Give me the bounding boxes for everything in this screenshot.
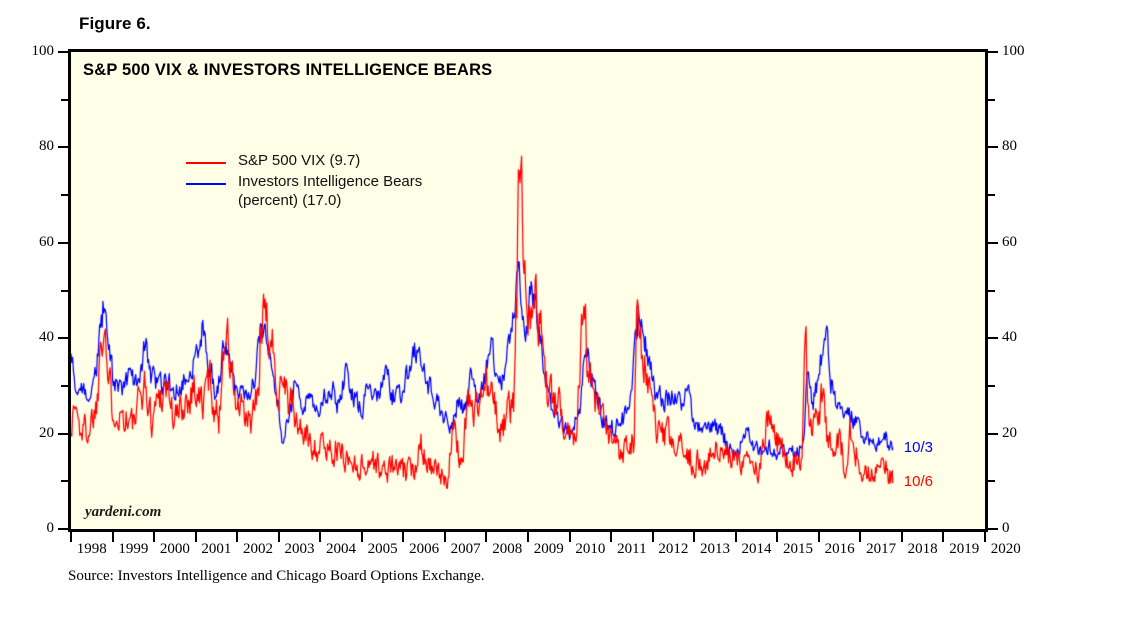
source-note: Source: Investors Intelligence and Chica… [68, 568, 485, 585]
y-tick-100-left [58, 51, 68, 53]
y-tick-70-left [61, 194, 68, 196]
y-tick-label-20-right: 20 [1002, 425, 1036, 442]
chart-title: S&P 500 VIX & INVESTORS INTELLIGENCE BEA… [83, 61, 492, 80]
y-tick-label-40-left: 40 [20, 329, 54, 346]
y-tick-40-right [988, 337, 998, 339]
y-tick-10-left [61, 480, 68, 482]
y-tick-label-80-right: 80 [1002, 138, 1036, 155]
y-tick-90-left [61, 99, 68, 101]
y-tick-label-60-left: 60 [20, 234, 54, 251]
end-label-vix: 10/6 [904, 473, 933, 490]
y-tick-label-0-right: 0 [1002, 520, 1036, 537]
watermark: yardeni.com [85, 504, 161, 521]
y-tick-label-100-right: 100 [1002, 43, 1036, 60]
y-tick-90-right [988, 99, 995, 101]
y-tick-60-right [988, 242, 998, 244]
y-tick-100-right [988, 51, 998, 53]
legend-label-bears-2: (percent) (17.0) [238, 192, 341, 209]
legend-swatch-vix [186, 162, 226, 164]
y-tick-label-60-right: 60 [1002, 234, 1036, 251]
figure-root: Figure 6. 020406080100 020406080100 1998… [0, 0, 1138, 621]
plot-area: S&P 500 VIX & INVESTORS INTELLIGENCE BEA… [68, 49, 988, 532]
y-tick-20-right [988, 433, 998, 435]
y-tick-10-right [988, 480, 995, 482]
figure-label: Figure 6. [79, 14, 151, 34]
y-tick-30-left [61, 385, 68, 387]
y-tick-70-right [988, 194, 995, 196]
y-tick-label-0-left: 0 [20, 520, 54, 537]
series-canvas [71, 52, 985, 529]
y-tick-30-right [988, 385, 995, 387]
y-tick-0-right [988, 528, 998, 530]
y-tick-label-80-left: 80 [20, 138, 54, 155]
y-tick-80-right [988, 146, 998, 148]
y-tick-50-right [988, 290, 995, 292]
legend-label-vix: S&P 500 VIX (9.7) [238, 152, 360, 169]
y-tick-20-left [58, 433, 68, 435]
legend-swatch-bears [186, 183, 226, 185]
y-tick-80-left [58, 146, 68, 148]
y-tick-40-left [58, 337, 68, 339]
y-tick-50-left [61, 290, 68, 292]
y-tick-60-left [58, 242, 68, 244]
x-tick-label-2020: 2020 [982, 541, 1030, 558]
y-tick-label-20-left: 20 [20, 425, 54, 442]
y-tick-label-40-right: 40 [1002, 329, 1036, 346]
end-label-bears: 10/3 [904, 439, 933, 456]
y-tick-0-left [58, 528, 68, 530]
y-tick-label-100-left: 100 [20, 43, 54, 60]
legend-label-bears: Investors Intelligence Bears [238, 173, 422, 190]
